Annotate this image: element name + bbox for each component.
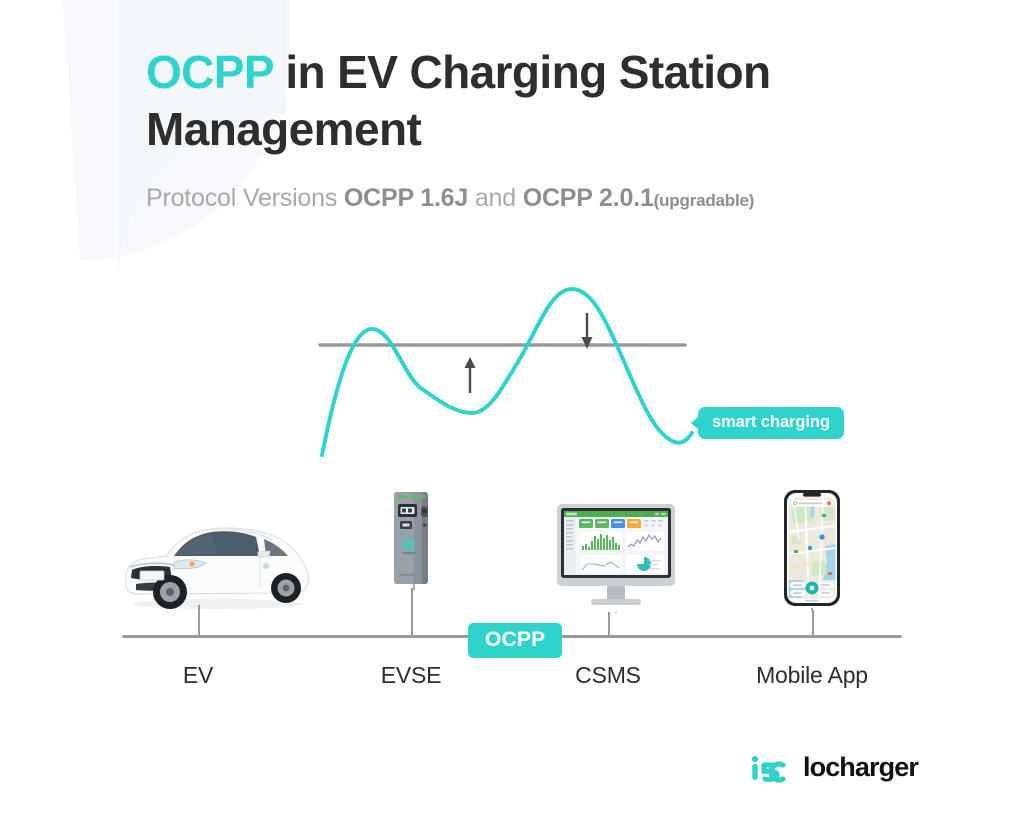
node-label-evse: EVSE (361, 662, 461, 689)
smart-charging-label: smart charging (712, 413, 830, 431)
charging-station-icon (386, 488, 438, 590)
page-title: OCPP in EV Charging Station Management (146, 44, 936, 158)
subtitle-prefix: Protocol Versions (146, 184, 344, 212)
connector-stem-csms (608, 612, 610, 637)
arrow-up-icon (465, 357, 476, 393)
subtitle-middle: and (468, 184, 523, 212)
node-label-ev: EV (148, 662, 248, 689)
badge-pointer-icon (691, 416, 699, 430)
page-subtitle: Protocol Versions OCPP 1.6J and OCPP 2.0… (146, 184, 936, 213)
desktop-dashboard-icon (551, 500, 681, 613)
smartphone-map-icon (779, 488, 845, 611)
load-curve-path (322, 289, 692, 455)
title-rest-line1: in EV Charging Station (273, 46, 770, 98)
ocpp-protocol-badge: OCPP (468, 623, 562, 658)
subtitle-suffix: (upgradable) (654, 191, 755, 210)
brand-logo: locharger (750, 752, 918, 783)
title-accent-word: OCPP (146, 46, 273, 98)
brand-logo-word: locharger (803, 752, 918, 783)
node-label-mobile-app: Mobile App (737, 662, 887, 689)
subtitle-version-1: OCPP 1.6J (344, 184, 468, 212)
connector-stem-ev (198, 605, 200, 637)
ocpp-actors-row: OCPP EV EVSE CSMS Mobile App (0, 470, 1024, 710)
header: OCPP in EV Charging Station Management P… (146, 44, 936, 213)
smart-charging-chart: smart charging (300, 265, 900, 465)
node-label-csms: CSMS (558, 662, 658, 689)
subtitle-version-2: OCPP 2.0.1 (523, 184, 654, 212)
title-line2: Management (146, 103, 421, 155)
connector-stem-app (812, 610, 814, 637)
i5c-logo-mark-icon (750, 753, 800, 783)
smart-charging-badge: smart charging (698, 407, 844, 439)
connector-stem-evse (411, 588, 413, 637)
electric-car-icon (118, 518, 318, 610)
